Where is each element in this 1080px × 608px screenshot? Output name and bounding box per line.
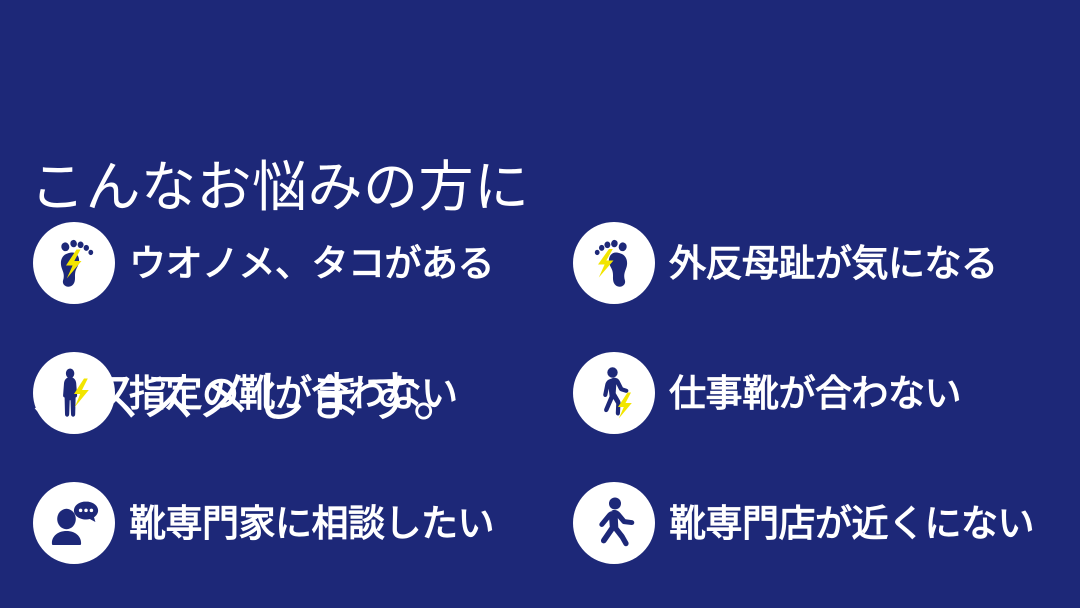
slide-root: こんなお悩みの方に オススメします。 ウオノメ、タコ (0, 0, 1080, 608)
list-item: ウオノメ、タコがある (33, 222, 573, 304)
list-item-label: ウオノメ、タコがある (129, 245, 494, 282)
standing-person-bolt-icon (33, 352, 115, 434)
benefit-grid: ウオノメ、タコがある 外反母趾が気になる (33, 222, 1053, 602)
list-item: 指定の靴が合わない (33, 352, 573, 434)
footprint-bolt-icon (33, 222, 115, 304)
list-item-label: 仕事靴が合わない (669, 375, 961, 412)
list-item: 外反母趾が気になる (573, 222, 1053, 304)
list-item-label: 指定の靴が合わない (129, 375, 458, 412)
list-item: 靴専門家に相談したい (33, 482, 573, 564)
list-item-label: 靴専門店が近くにない (669, 505, 1034, 542)
pedestrian-icon (573, 482, 655, 564)
walking-person-bolt-icon (573, 352, 655, 434)
person-speech-bubble-icon (33, 482, 115, 564)
list-item: 靴専門店が近くにない (573, 482, 1053, 564)
footprint-bunion-bolt-icon (573, 222, 655, 304)
list-item: 仕事靴が合わない (573, 352, 1053, 434)
list-item-label: 靴専門家に相談したい (129, 505, 494, 542)
list-item-label: 外反母趾が気になる (669, 245, 998, 282)
page-title-line-1: こんなお悩みの方に (30, 152, 1030, 222)
